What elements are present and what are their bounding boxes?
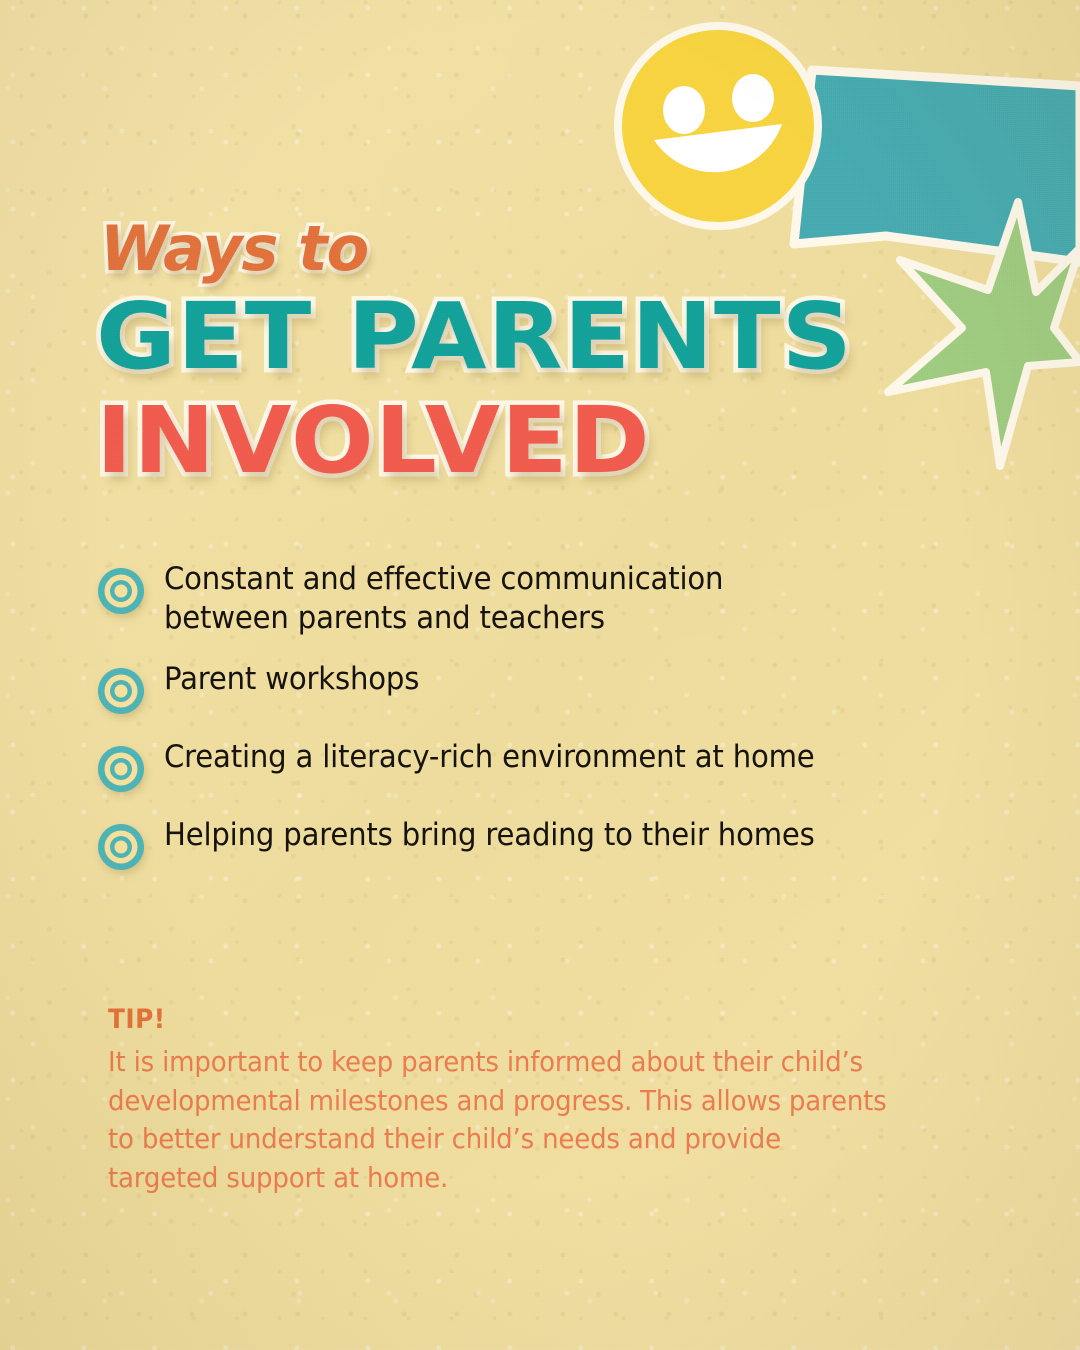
concentric-target-icon bbox=[96, 566, 146, 616]
six-point-star-icon bbox=[878, 186, 1080, 482]
headline-kicker: Ways to bbox=[100, 218, 856, 280]
list-item-label: Creating a literacy-rich environment at … bbox=[164, 738, 815, 777]
list-item: Creating a literacy-rich environment at … bbox=[96, 738, 976, 794]
headline-block: Ways to GET PARENTS INVOLVED bbox=[96, 218, 856, 488]
poster-canvas: Ways to GET PARENTS INVOLVED Constant an… bbox=[0, 0, 1080, 1350]
tip-title: TIP! bbox=[108, 1004, 881, 1035]
tip-body: It is important to keep parents informed… bbox=[108, 1043, 889, 1198]
tip-block: TIP! It is important to keep parents inf… bbox=[108, 1004, 948, 1198]
list-item: Constant and effective communication bet… bbox=[96, 560, 976, 638]
list-item-label: Helping parents bring reading to their h… bbox=[164, 816, 815, 855]
headline-line-1: GET PARENTS bbox=[96, 290, 902, 384]
ways-list: Constant and effective communication bet… bbox=[96, 560, 976, 894]
list-item: Parent workshops bbox=[96, 660, 976, 716]
list-item: Helping parents bring reading to their h… bbox=[96, 816, 976, 872]
smiley-face-icon bbox=[608, 18, 828, 238]
headline-line-2: INVOLVED bbox=[96, 394, 902, 488]
concentric-target-icon bbox=[96, 822, 146, 872]
concentric-target-icon bbox=[96, 666, 146, 716]
list-item-label: Constant and effective communication bet… bbox=[164, 560, 723, 638]
concentric-target-icon bbox=[96, 744, 146, 794]
list-item-label: Parent workshops bbox=[164, 660, 419, 699]
